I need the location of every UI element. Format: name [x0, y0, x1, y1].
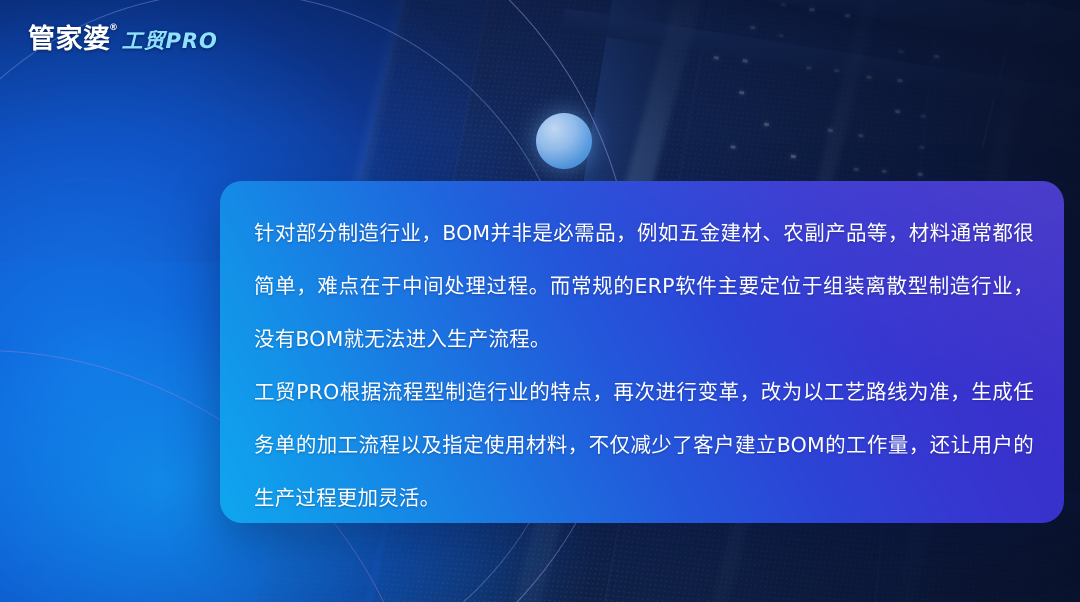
paragraph-1: 针对部分制造行业，BOM并非是必需品，例如五金建材、农副产品等，材料通常都很简单… — [254, 207, 1034, 366]
content-card-body: 针对部分制造行业，BOM并非是必需品，例如五金建材、农副产品等，材料通常都很简单… — [220, 181, 1064, 523]
brand-product-name: 工贸PRO — [122, 31, 218, 52]
content-card: 针对部分制造行业，BOM并非是必需品，例如五金建材、农副产品等，材料通常都很简单… — [220, 181, 1064, 523]
slide-canvas: 管家婆 ® 工贸PRO 针对部分制造行业，BOM并非是必需品，例如五金建材、农副… — [0, 0, 1080, 602]
glowing-sphere — [536, 113, 592, 169]
brand-name-text: 管家婆 — [28, 24, 111, 55]
paragraph-2: 工贸PRO根据流程型制造行业的特点，再次进行变革，改为以工艺路线为准，生成任务单… — [254, 366, 1034, 523]
brand-logo[interactable]: 管家婆 ® 工贸PRO — [28, 26, 218, 53]
registered-trademark-icon: ® — [109, 24, 119, 33]
brand-name-cn: 管家婆 ® — [28, 26, 111, 53]
